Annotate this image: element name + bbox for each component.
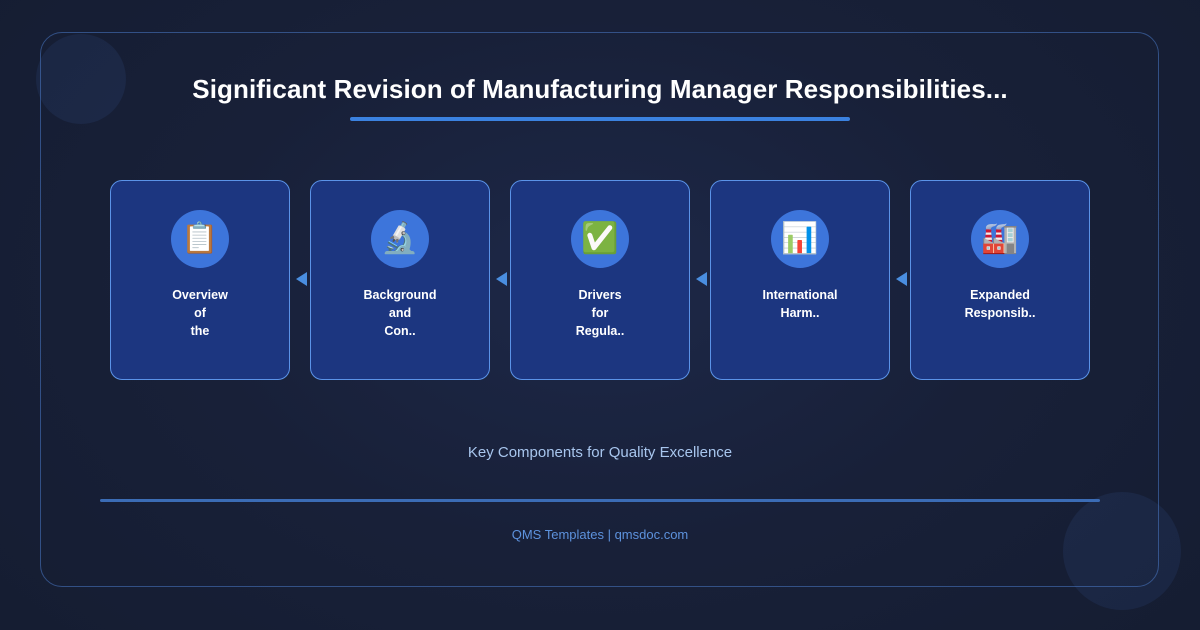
process-card-label: International Harm.. xyxy=(725,286,875,322)
process-card-label: Overview of the xyxy=(125,286,275,340)
arrow-left-icon xyxy=(896,272,907,286)
check-mark-icon-glyph: ✅ xyxy=(581,224,618,254)
microscope-icon: 🔬 xyxy=(371,210,429,268)
process-card-label: Drivers for Regula.. xyxy=(525,286,675,340)
process-card-3[interactable]: ✅ Drivers for Regula.. xyxy=(510,180,690,380)
clipboard-icon: 📋 xyxy=(171,210,229,268)
process-card-label: Expanded Responsib.. xyxy=(925,286,1075,322)
process-card-1[interactable]: 📋 Overview of the xyxy=(110,180,290,380)
arrow-left-icon xyxy=(496,272,507,286)
process-cards-row: 📋 Overview of the 🔬 Background and Con..… xyxy=(110,180,1090,380)
slide-content: Significant Revision of Manufacturing Ma… xyxy=(0,0,1200,630)
books-icon-glyph: 📊 xyxy=(781,224,818,254)
subtitle-caption: Key Components for Quality Excellence xyxy=(0,444,1200,461)
process-card-5[interactable]: 🏭 Expanded Responsib.. xyxy=(910,180,1090,380)
page-title: Significant Revision of Manufacturing Ma… xyxy=(0,72,1200,106)
process-card-2[interactable]: 🔬 Background and Con.. xyxy=(310,180,490,380)
arrow-left-icon xyxy=(696,272,707,286)
factory-icon-glyph: 🏭 xyxy=(981,224,1018,254)
microscope-icon-glyph: 🔬 xyxy=(381,224,418,254)
slide-canvas: Significant Revision of Manufacturing Ma… xyxy=(0,0,1200,630)
check-mark-icon: ✅ xyxy=(571,210,629,268)
footer-attribution: QMS Templates | qmsdoc.com xyxy=(0,527,1200,542)
footer-divider xyxy=(100,499,1100,502)
process-card-4[interactable]: 📊 International Harm.. xyxy=(710,180,890,380)
title-underline xyxy=(350,117,850,121)
factory-icon: 🏭 xyxy=(971,210,1029,268)
process-card-label: Background and Con.. xyxy=(325,286,475,340)
clipboard-icon-glyph: 📋 xyxy=(181,224,218,254)
arrow-left-icon xyxy=(296,272,307,286)
books-icon: 📊 xyxy=(771,210,829,268)
